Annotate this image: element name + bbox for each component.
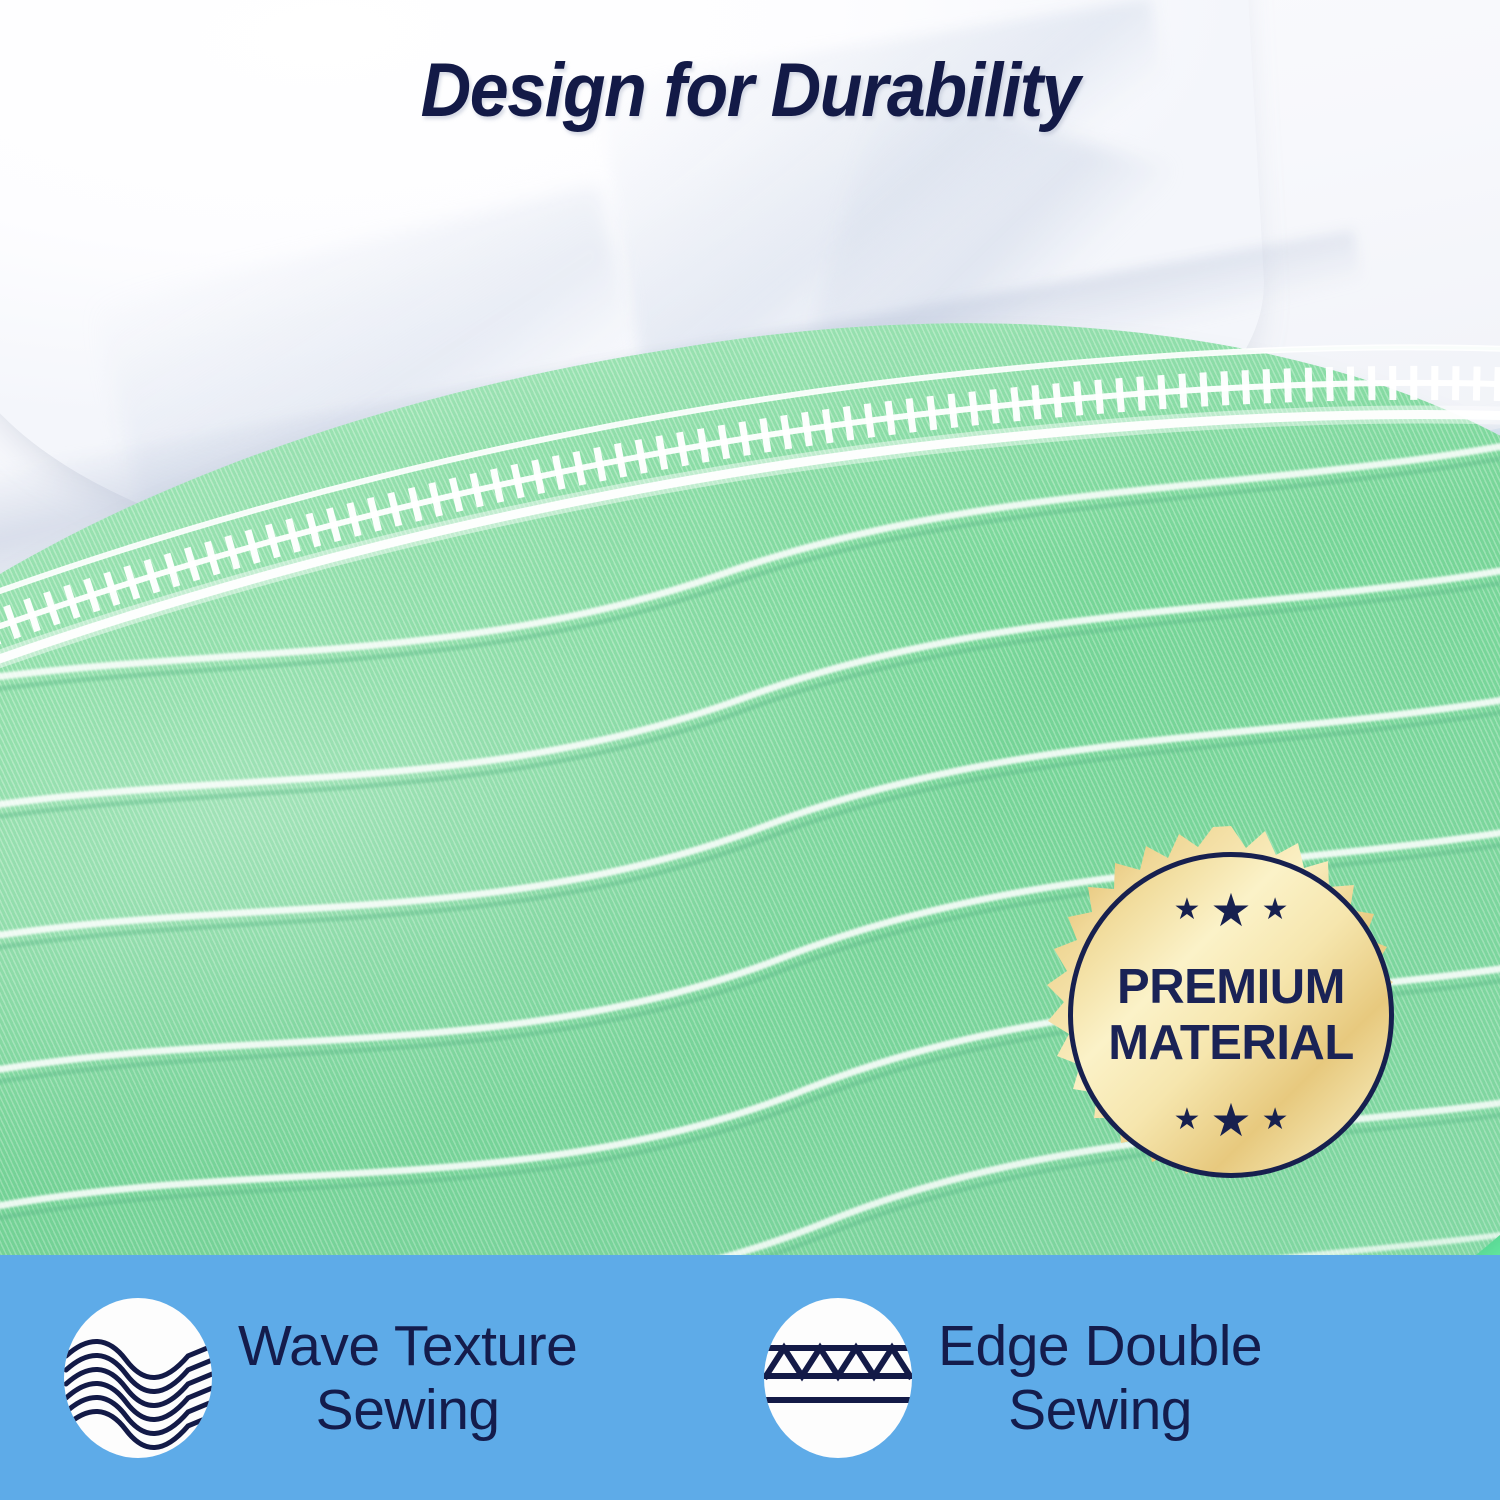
wave-lines-icon (64, 1298, 212, 1458)
feature-label-edge-double: Edge Double Sewing (938, 1314, 1262, 1442)
wave-texture-icon (64, 1298, 212, 1458)
photo-scene: Design for Durability (0, 0, 1500, 1255)
feature-label-line-1: Edge Double (938, 1314, 1262, 1378)
feature-item-edge-double: Edge Double Sewing (750, 1298, 1450, 1458)
star-small-icon: ★ (1173, 895, 1200, 925)
star-small-icon: ★ (1173, 1105, 1200, 1135)
star-small-icon: ★ (1262, 895, 1289, 925)
badge-line-1: PREMIUM (1117, 959, 1345, 1015)
product-marketing-image: Design for Durability (0, 0, 1500, 1500)
premium-material-badge: ★ ★ ★ PREMIUM MATERIAL ★ ★ ★ (1038, 822, 1424, 1208)
badge-stars-top: ★ ★ ★ (1173, 887, 1288, 933)
star-large-icon: ★ (1210, 887, 1251, 933)
zigzag-stitch-icon (764, 1298, 912, 1458)
star-small-icon: ★ (1262, 1105, 1289, 1135)
feature-label-line-1: Wave Texture (238, 1314, 577, 1378)
badge-stars-bottom: ★ ★ ★ (1173, 1097, 1288, 1143)
badge-line-2: MATERIAL (1108, 1015, 1354, 1071)
feature-label-wave-texture: Wave Texture Sewing (238, 1314, 577, 1442)
page-title: Design for Durability (60, 48, 1440, 134)
zigzag-lines-icon (764, 1298, 912, 1458)
badge-inner-circle: ★ ★ ★ PREMIUM MATERIAL ★ ★ ★ (1068, 852, 1394, 1178)
star-large-icon: ★ (1210, 1097, 1251, 1143)
feature-band: Wave Texture Sewing Edge Double Sewing (0, 1255, 1500, 1500)
feature-label-line-2: Sewing (238, 1378, 577, 1442)
feature-label-line-2: Sewing (938, 1378, 1262, 1442)
feature-item-wave-texture: Wave Texture Sewing (50, 1298, 750, 1458)
